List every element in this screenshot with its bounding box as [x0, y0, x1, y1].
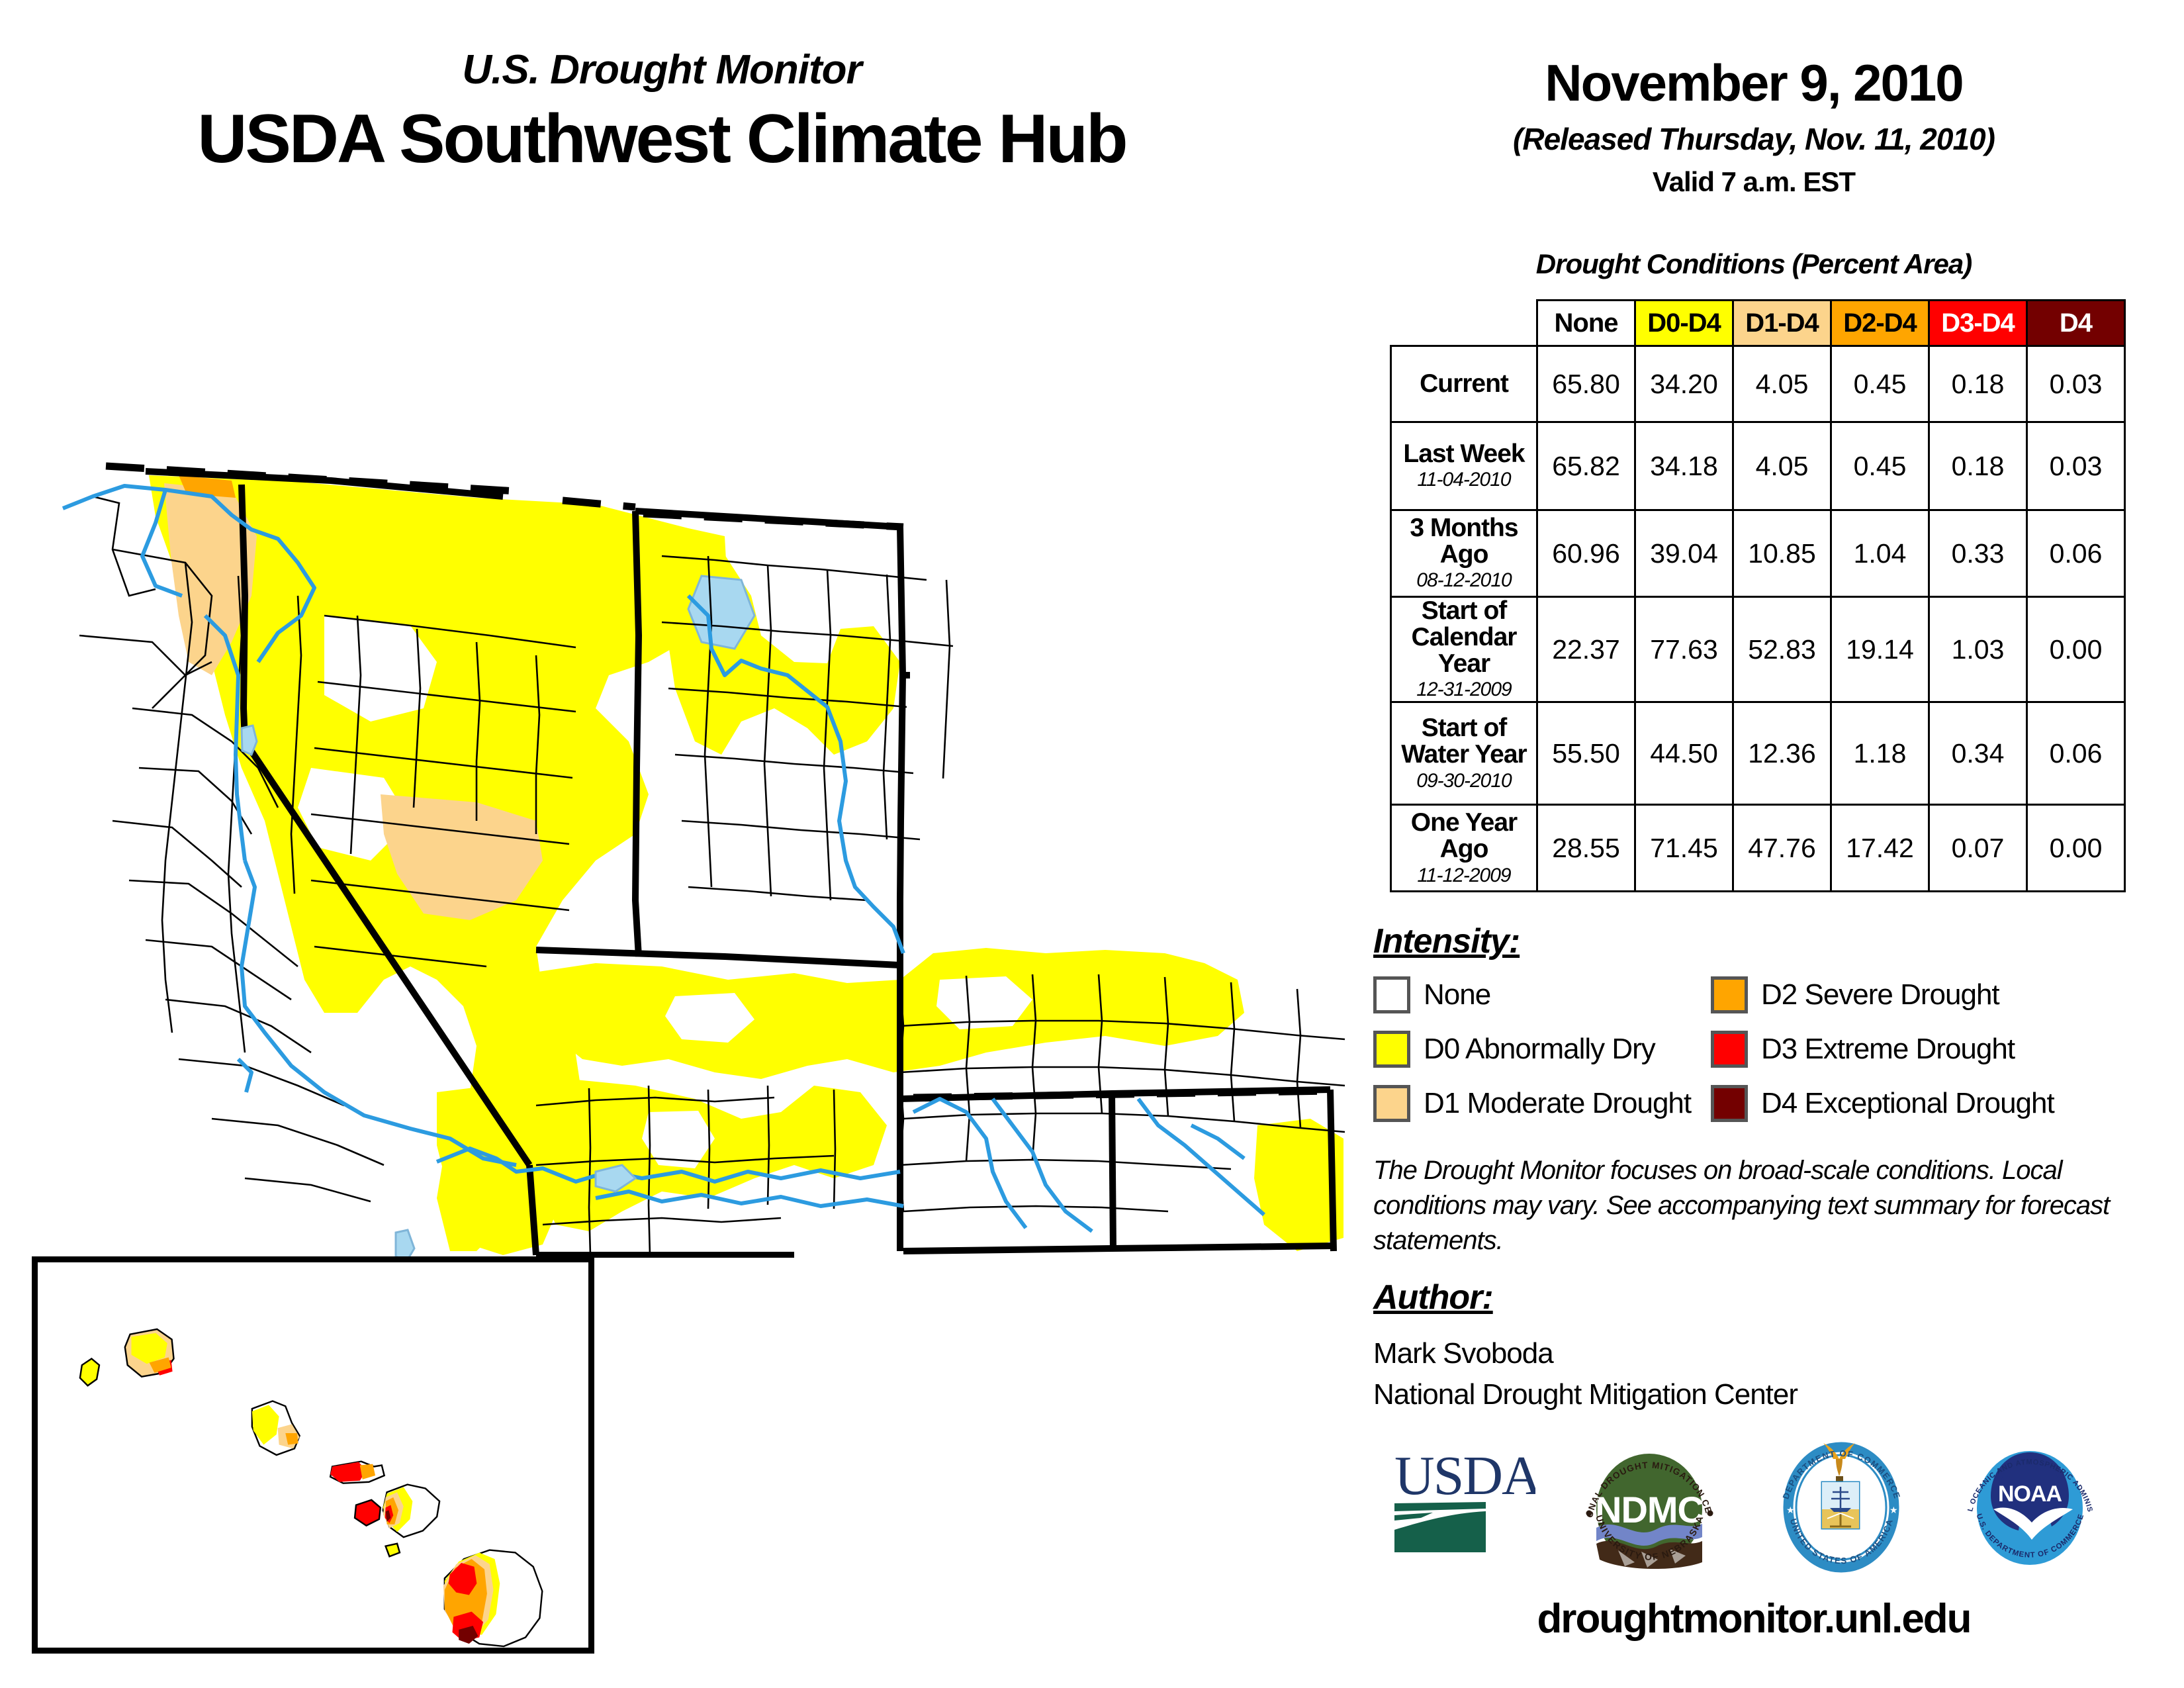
table-cell: 4.05: [1733, 346, 1831, 422]
row-label: Start ofWater Year09-30-2010: [1391, 702, 1537, 805]
row-date: 11-12-2009: [1392, 865, 1536, 887]
table-cell: 52.83: [1733, 597, 1831, 702]
legend-swatch: [1711, 976, 1748, 1013]
table-cell: 0.03: [2027, 346, 2125, 422]
table-col-header-d2-d4: D2-D4: [1831, 301, 1929, 346]
map-date: November 9, 2010: [1363, 53, 2144, 113]
table-cell: 19.14: [1831, 597, 1929, 702]
table-cell: 47.76: [1733, 805, 1831, 892]
author-name: Mark Svoboda: [1373, 1337, 1553, 1370]
svg-text:USDA: USDA: [1394, 1445, 1535, 1507]
table-cell: 0.18: [1929, 346, 2027, 422]
row-label-text: 3 Months Ago: [1392, 515, 1536, 568]
table-cell: 34.20: [1635, 346, 1733, 422]
table-cell: 0.07: [1929, 805, 2027, 892]
island-hawaii: [443, 1550, 542, 1647]
row-label-text: Start ofWater Year: [1392, 715, 1536, 768]
drought-conditions-table: NoneD0-D4D1-D4D2-D4D3-D4D4 Current65.803…: [1390, 299, 2126, 892]
table-cell: 60.96: [1537, 510, 1635, 597]
header-left: U.S. Drought Monitor USDA Southwest Clim…: [0, 46, 1324, 179]
legend-label: D0 Abnormally Dry: [1424, 1033, 1655, 1066]
table-corner-cell: [1391, 301, 1537, 346]
row-label-text: Start ofCalendar Year: [1392, 598, 1536, 677]
svg-text:★: ★: [1786, 1505, 1795, 1515]
table-row: Start ofCalendar Year12-31-200922.3777.6…: [1391, 597, 2125, 702]
legend-label: D4 Exceptional Drought: [1761, 1087, 2054, 1120]
intensity-heading: Intensity:: [1373, 921, 1520, 961]
table-row: Start ofWater Year09-30-201055.5044.5012…: [1391, 702, 2125, 805]
table-body: Current65.8034.204.050.450.180.03Last We…: [1391, 346, 2125, 892]
island-oahu: [252, 1401, 300, 1455]
doc-seal-logo: DEPARTMENT OF COMMERCE UNITED STATES OF …: [1770, 1430, 1913, 1585]
row-label: 3 Months Ago08-12-2010: [1391, 510, 1537, 597]
table-cell: 17.42: [1831, 805, 1929, 892]
noaa-logo: NOAA NATIONAL OCEANIC AND ATMOSPHERIC AD…: [1959, 1430, 2101, 1585]
legend-item-d3: D3 Extreme Drought: [1711, 1031, 2015, 1068]
legend-label: D1 Moderate Drought: [1424, 1087, 1691, 1120]
southwest-drought-map: [13, 397, 1350, 1258]
d0-polygon-north-utah: [662, 549, 900, 755]
page-title: USDA Southwest Climate Hub: [0, 100, 1324, 179]
legend-item-d0: D0 Abnormally Dry: [1373, 1031, 1655, 1068]
ndmc-logo: NDMC NATIONAL DROUGHT MITIGATION CENTER …: [1578, 1430, 1721, 1585]
hawaii-inset-map: [32, 1256, 594, 1654]
table-cell: 1.03: [1929, 597, 2027, 702]
table-cell: 1.18: [1831, 702, 1929, 805]
header-right: November 9, 2010 (Released Thursday, Nov…: [1363, 53, 2144, 198]
table-cell: 0.03: [2027, 422, 2125, 510]
island-niihau: [80, 1359, 99, 1386]
row-date: 12-31-2009: [1392, 679, 1536, 701]
valid-time: Valid 7 a.m. EST: [1363, 166, 2144, 198]
svg-text:NDMC: NDMC: [1595, 1489, 1704, 1530]
row-label-text: Last Week: [1392, 441, 1536, 467]
row-label: Current: [1391, 346, 1537, 422]
island-molokai: [330, 1462, 384, 1483]
page-subtitle: U.S. Drought Monitor: [0, 46, 1324, 93]
table-cell: 0.00: [2027, 805, 2125, 892]
row-label: Start ofCalendar Year12-31-2009: [1391, 597, 1537, 702]
legend-swatch: [1373, 1031, 1410, 1068]
legend-label: D2 Severe Drought: [1761, 978, 1999, 1011]
legend-item-none: None: [1373, 976, 1490, 1013]
website-url[interactable]: droughtmonitor.unl.edu: [1363, 1595, 2144, 1642]
table-cell: 0.18: [1929, 422, 2027, 510]
table-cell: 1.04: [1831, 510, 1929, 597]
row-label-text: Current: [1392, 371, 1536, 397]
legend-swatch: [1373, 1085, 1410, 1122]
table-cell: 10.85: [1733, 510, 1831, 597]
row-label: Last Week11-04-2010: [1391, 422, 1537, 510]
legend-item-d4: D4 Exceptional Drought: [1711, 1085, 2054, 1122]
row-label: One Year Ago11-12-2009: [1391, 805, 1537, 892]
table-cell: 0.06: [2027, 510, 2125, 597]
table-col-header-d0-d4: D0-D4: [1635, 301, 1733, 346]
island-kauai: [125, 1329, 174, 1377]
row-date: 11-04-2010: [1392, 469, 1536, 491]
legend-note: The Drought Monitor focuses on broad-sca…: [1373, 1153, 2115, 1258]
author-heading: Author:: [1373, 1278, 1493, 1317]
table-cell: 12.36: [1733, 702, 1831, 805]
table-col-header-d1-d4: D1-D4: [1733, 301, 1831, 346]
table-cell: 28.55: [1537, 805, 1635, 892]
table-col-header-d3-d4: D3-D4: [1929, 301, 2027, 346]
release-date: (Released Thursday, Nov. 11, 2010): [1363, 121, 2144, 157]
legend-swatch: [1373, 976, 1410, 1013]
table-row: Current65.8034.204.050.450.180.03: [1391, 346, 2125, 422]
table-row: 3 Months Ago08-12-201060.9639.0410.851.0…: [1391, 510, 2125, 597]
legend-item-d1: D1 Moderate Drought: [1373, 1085, 1691, 1122]
island-maui: [383, 1485, 439, 1538]
legend-item-d2: D2 Severe Drought: [1711, 976, 1999, 1013]
table-row: Last Week11-04-201065.8234.184.050.450.1…: [1391, 422, 2125, 510]
table-cell: 44.50: [1635, 702, 1733, 805]
table-cell: 65.80: [1537, 346, 1635, 422]
row-date: 08-12-2010: [1392, 569, 1536, 592]
table-cell: 22.37: [1537, 597, 1635, 702]
svg-text:NOAA: NOAA: [1998, 1481, 2062, 1507]
table-cell: 55.50: [1537, 702, 1635, 805]
hawaii-islands: [38, 1262, 588, 1648]
legend-swatch: [1711, 1031, 1748, 1068]
table-col-header-none: None: [1537, 301, 1635, 346]
usda-logo: USDA: [1393, 1440, 1535, 1566]
island-lanai: [355, 1500, 381, 1526]
table-cell: 0.33: [1929, 510, 2027, 597]
svg-text:★: ★: [1889, 1505, 1898, 1515]
table-cell: 39.04: [1635, 510, 1733, 597]
table-cell: 0.45: [1831, 422, 1929, 510]
table-header-row: NoneD0-D4D1-D4D2-D4D3-D4D4: [1391, 301, 2125, 346]
island-kahoolawe: [386, 1544, 400, 1556]
table-cell: 65.82: [1537, 422, 1635, 510]
legend-label: None: [1424, 978, 1490, 1011]
table-caption: Drought Conditions (Percent Area): [1363, 248, 2144, 280]
table-cell: 0.34: [1929, 702, 2027, 805]
table-cell: 0.00: [2027, 597, 2125, 702]
table-cell: 0.45: [1831, 346, 1929, 422]
table-cell: 4.05: [1733, 422, 1831, 510]
row-label-text: One Year Ago: [1392, 810, 1536, 863]
legend-label: D3 Extreme Drought: [1761, 1033, 2015, 1066]
table-cell: 34.18: [1635, 422, 1733, 510]
table-row: One Year Ago11-12-200928.5571.4547.7617.…: [1391, 805, 2125, 892]
table-cell: 77.63: [1635, 597, 1733, 702]
table-cell: 71.45: [1635, 805, 1733, 892]
table-col-header-d4: D4: [2027, 301, 2125, 346]
table-cell: 0.06: [2027, 702, 2125, 805]
legend-swatch: [1711, 1085, 1748, 1122]
row-date: 09-30-2010: [1392, 770, 1536, 792]
author-org: National Drought Mitigation Center: [1373, 1378, 1797, 1411]
